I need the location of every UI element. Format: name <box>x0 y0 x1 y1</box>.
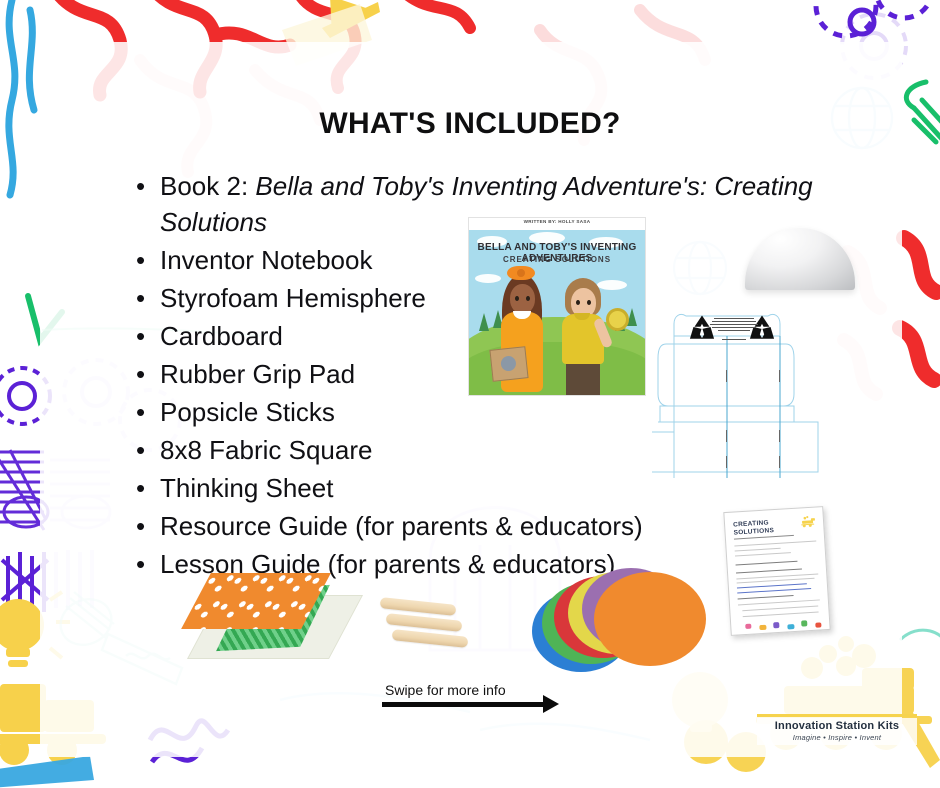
list-item: •8x8 Fabric Square <box>132 432 712 468</box>
fabric-square-photo <box>196 573 348 661</box>
worksheet-rule <box>734 541 816 547</box>
page-title: WHAT'S INCLUDED? <box>0 107 940 141</box>
swipe-cue[interactable]: Swipe for more info <box>385 682 506 698</box>
worksheet-rule <box>738 595 794 600</box>
gear-icon <box>606 308 629 331</box>
worksheet-rule <box>743 612 819 618</box>
grip-pad-orange <box>594 572 706 666</box>
book-title-line2: CREATING SOLUTIONS <box>469 255 645 264</box>
bullet-icon: • <box>136 356 145 392</box>
right-arrow-head-icon <box>543 695 559 713</box>
worksheet-rule <box>738 599 820 605</box>
confetti-shape <box>815 622 821 627</box>
bullet-icon: • <box>136 394 145 430</box>
cardboard-box-prop <box>489 346 528 382</box>
tree-icon <box>479 313 489 331</box>
worksheet-rule <box>737 588 811 594</box>
worksheet-rule <box>742 606 818 612</box>
cloud-icon <box>597 280 627 290</box>
worksheet-rule <box>736 561 798 566</box>
confetti-shape <box>801 620 807 626</box>
item-title: Thinking Sheet <box>160 473 333 503</box>
rubber-grip-pads-photo <box>532 568 712 678</box>
brand-logo: Innovation Station Kits Imagine • Inspir… <box>757 718 917 745</box>
train-icon <box>798 516 817 529</box>
list-item: •Popsicle Sticks <box>132 394 712 430</box>
bullet-icon: • <box>136 546 145 582</box>
right-arrow-icon <box>382 702 547 707</box>
boy-eye <box>587 300 591 305</box>
bullet-icon: • <box>136 318 145 354</box>
list-item: •Thinking Sheet <box>132 470 712 506</box>
worksheet-rule <box>737 583 807 588</box>
boy-pants <box>566 360 600 395</box>
popsicle-stick <box>392 629 469 648</box>
item-title: Styrofoam Hemisphere <box>160 283 426 313</box>
bullet-icon: • <box>136 432 145 468</box>
brand-tagline: Imagine • Inspire • Invent <box>757 733 917 742</box>
confetti-shape <box>745 624 751 629</box>
worksheet-rule <box>735 548 781 552</box>
book-byline: WRITTEN BY: HOLLY SASA <box>469 219 645 224</box>
cardboard-template-photo <box>652 310 852 478</box>
item-title: Popsicle Sticks <box>160 397 335 427</box>
bullet-icon: • <box>136 242 145 278</box>
item-title: Resource Guide (for parents & educators) <box>160 511 643 541</box>
item-title: Inventor Notebook <box>160 245 372 275</box>
worksheet-rule <box>735 552 791 556</box>
slide-canvas: WHAT'S INCLUDED? •Book 2: Bella and Toby… <box>0 0 940 788</box>
item-prefix: Book 2: <box>160 171 255 201</box>
girl-eye <box>515 296 519 301</box>
brand-rule <box>757 714 917 717</box>
thinking-sheet-photo: CREATING SOLUTIONS <box>723 506 830 636</box>
bullet-icon: • <box>136 168 145 204</box>
boy-eye <box>576 300 580 305</box>
bullet-icon: • <box>136 280 145 316</box>
brand-name: Innovation Station Kits <box>757 720 917 732</box>
confetti-shape <box>759 625 766 630</box>
worksheet-rule <box>736 568 802 573</box>
confetti-shape <box>773 622 779 628</box>
swipe-label: Swipe for more info <box>385 682 506 698</box>
confetti-shape <box>787 624 794 629</box>
girl-face <box>510 284 535 314</box>
item-title: 8x8 Fabric Square <box>160 435 372 465</box>
book-cover-photo: WRITTEN BY: HOLLY SASA BELLA AND TOBY'S … <box>468 217 646 396</box>
hair-bow-icon <box>507 266 535 280</box>
bullet-icon: • <box>136 470 145 506</box>
list-item: •Resource Guide (for parents & educators… <box>132 508 712 544</box>
cloud-icon <box>475 274 501 283</box>
worksheet-heading: CREATING SOLUTIONS <box>733 519 775 537</box>
girl-eye <box>526 296 530 301</box>
item-title: Cardboard <box>160 321 283 351</box>
item-title: Rubber Grip Pad <box>160 359 355 389</box>
bullet-icon: • <box>136 508 145 544</box>
